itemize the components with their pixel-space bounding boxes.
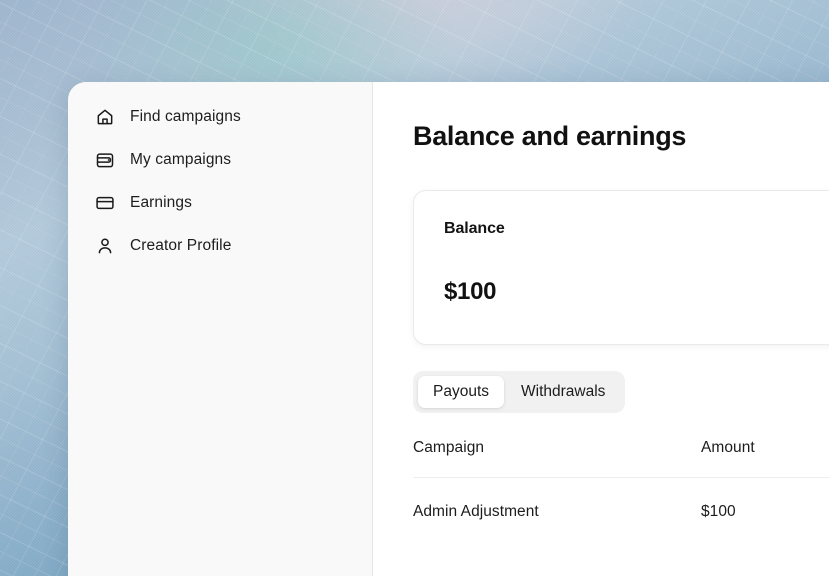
main-content: Balance and earnings Balance $100 Payout… [373, 82, 829, 576]
cell-campaign: Admin Adjustment [413, 477, 701, 521]
sidebar-item-label: Creator Profile [130, 237, 231, 255]
table-body: Admin Adjustment $100 [413, 477, 829, 521]
person-icon [95, 236, 115, 256]
earnings-tabs: Payouts Withdrawals [413, 371, 625, 413]
tab-payouts[interactable]: Payouts [418, 376, 504, 408]
sidebar-item-label: Earnings [130, 194, 192, 212]
table-header: Campaign Amount [413, 439, 829, 478]
sidebar-item-earnings[interactable]: Earnings [78, 181, 362, 224]
sidebar-item-label: My campaigns [130, 151, 231, 169]
balance-label: Balance [444, 220, 829, 238]
column-header-campaign: Campaign [413, 439, 701, 478]
cell-amount: $100 [701, 477, 829, 521]
sidebar-navigation: Find campaigns My campaigns [68, 82, 373, 576]
table-header-row: Campaign Amount [413, 439, 829, 478]
sidebar-item-label: Find campaigns [130, 108, 241, 126]
column-header-amount: Amount [701, 439, 829, 478]
credit-card-icon [95, 193, 115, 213]
payouts-table: Campaign Amount Admin Adjustment $100 [413, 439, 829, 521]
sidebar-item-find-campaigns[interactable]: Find campaigns [78, 95, 362, 138]
table-row[interactable]: Admin Adjustment $100 [413, 477, 829, 521]
balance-amount: $100 [444, 278, 829, 306]
sidebar-item-my-campaigns[interactable]: My campaigns [78, 138, 362, 181]
page-title: Balance and earnings [413, 122, 829, 152]
home-icon [95, 107, 115, 127]
desktop-background: Find campaigns My campaigns [0, 0, 829, 576]
balance-card: Balance $100 [413, 190, 829, 345]
wallet-icon [95, 150, 115, 170]
sidebar-item-creator-profile[interactable]: Creator Profile [78, 224, 362, 267]
tab-withdrawals[interactable]: Withdrawals [506, 376, 620, 408]
app-window: Find campaigns My campaigns [68, 82, 829, 576]
